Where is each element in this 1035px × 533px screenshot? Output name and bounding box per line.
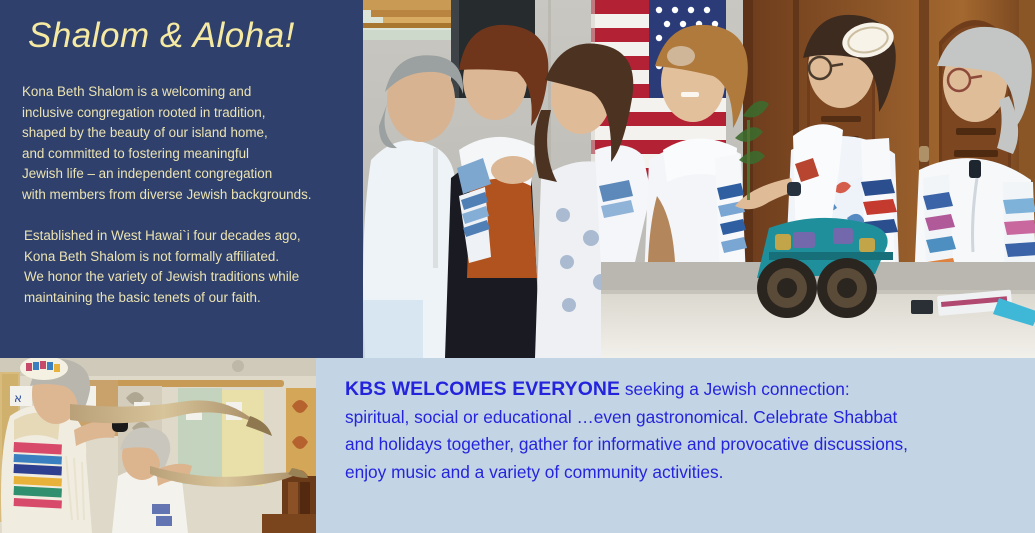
intro-panel: Shalom & Aloha! Kona Beth Shalom is a we…	[0, 0, 363, 358]
intro-line: Kona Beth Shalom is not formally affilia…	[24, 247, 363, 268]
welcome-line: spiritual, social or educational …even g…	[345, 404, 1025, 432]
intro-line: maintaining the basic tenets of our fait…	[24, 288, 363, 309]
page-title: Shalom & Aloha!	[28, 16, 295, 56]
welcome-line: and holidays together, gather for inform…	[345, 431, 1025, 459]
intro-paragraph-one: Kona Beth Shalom is a welcoming and incl…	[22, 82, 363, 206]
welcome-line-one: KBS WELCOMES EVERYONE seeking a Jewish c…	[345, 376, 1025, 404]
shofar-photo: א	[0, 358, 316, 533]
intro-line: Established in West Hawai`i four decades…	[24, 226, 363, 247]
welcome-line: enjoy music and a variety of community a…	[345, 459, 1025, 487]
welcome-message: KBS WELCOMES EVERYONE seeking a Jewish c…	[345, 376, 1025, 486]
intro-line: Kona Beth Shalom is a welcoming and	[22, 82, 363, 103]
svg-text:א: א	[14, 391, 22, 405]
intro-line: Jewish life – an independent congregatio…	[22, 164, 363, 185]
welcome-panel: KBS WELCOMES EVERYONE seeking a Jewish c…	[316, 358, 1035, 533]
congregation-photo	[363, 0, 1035, 358]
welcome-heading-tail: seeking a Jewish connection:	[620, 379, 850, 399]
welcome-heading: KBS WELCOMES EVERYONE	[345, 378, 620, 400]
intro-line: inclusive congregation rooted in traditi…	[22, 103, 363, 124]
intro-line: shaped by the beauty of our island home,	[22, 123, 363, 144]
intro-line: with members from diverse Jewish backgro…	[22, 185, 363, 206]
intro-line: and committed to fostering meaningful	[22, 144, 363, 165]
intro-paragraph-two: Established in West Hawai`i four decades…	[24, 226, 363, 308]
promotional-layout: Shalom & Aloha! Kona Beth Shalom is a we…	[0, 0, 1035, 533]
intro-line: We honor the variety of Jewish tradition…	[24, 267, 363, 288]
